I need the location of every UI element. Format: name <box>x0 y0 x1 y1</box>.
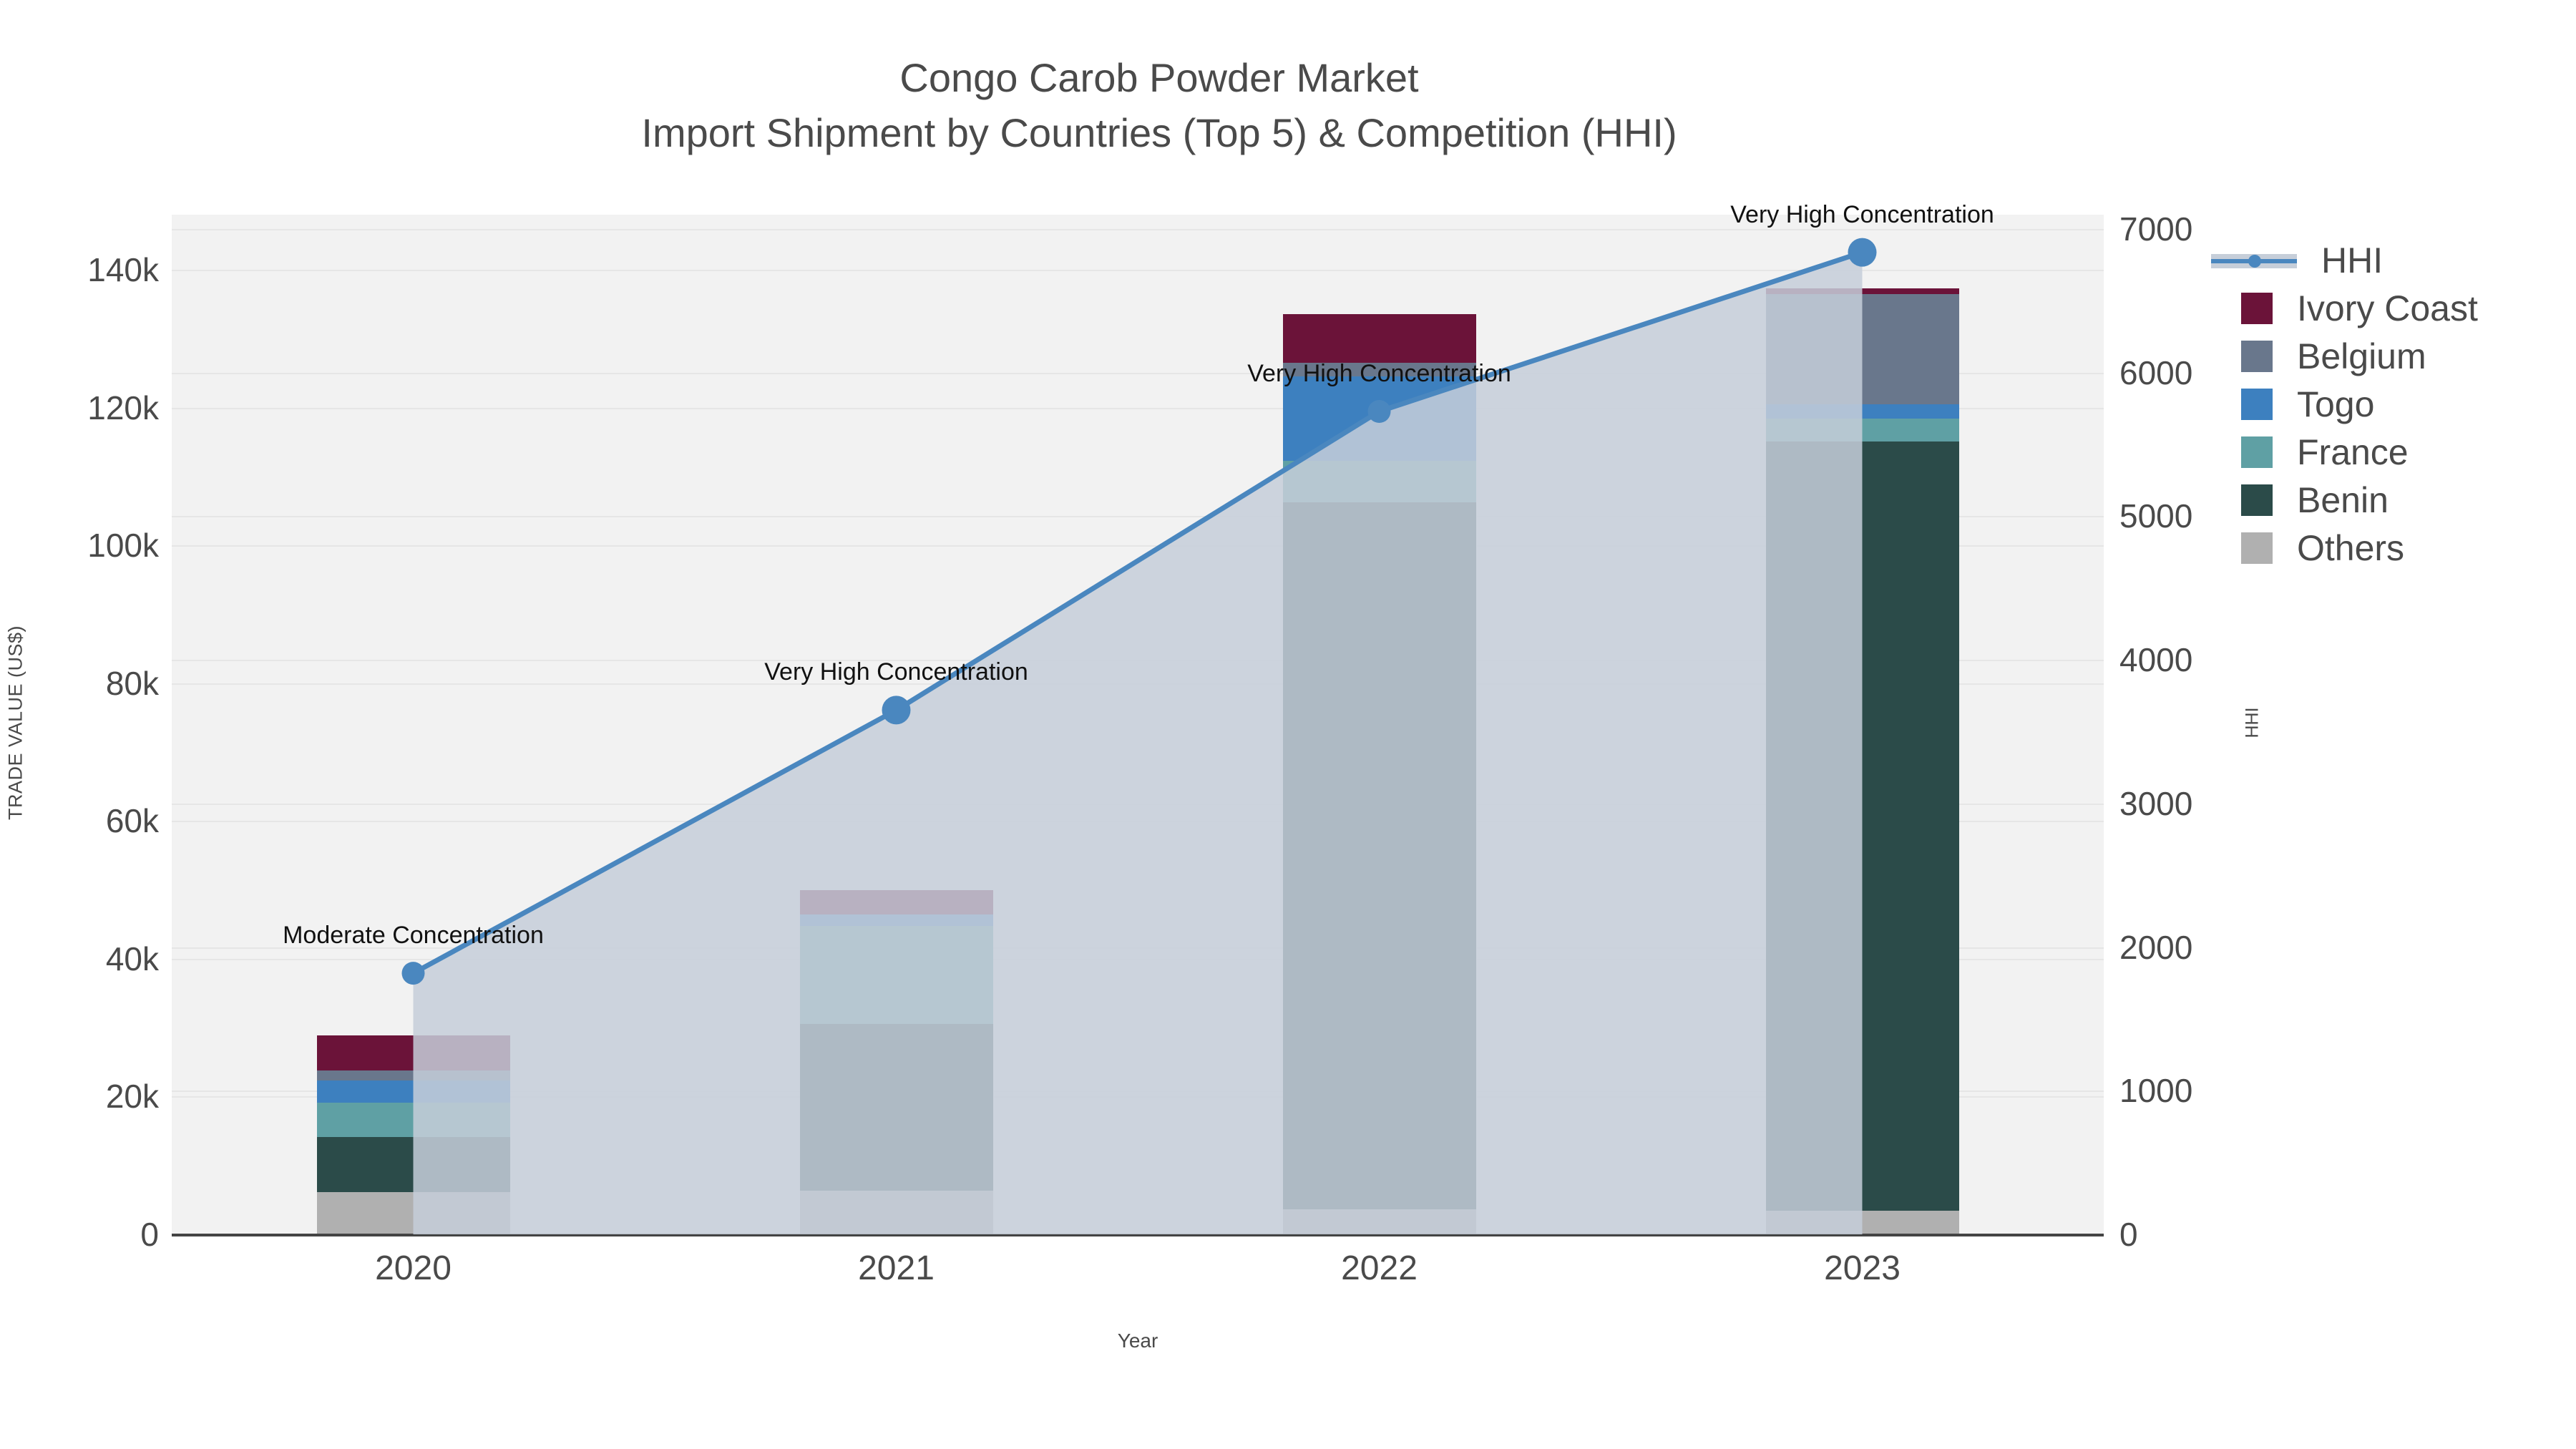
bar-stack[interactable] <box>800 890 993 1234</box>
plot-area <box>172 215 2104 1234</box>
bar-segment[interactable] <box>317 1035 510 1070</box>
bar-segment[interactable] <box>317 1070 510 1080</box>
bar-segment[interactable] <box>800 1024 993 1191</box>
x-axis-tick: 2023 <box>1824 1249 1901 1288</box>
concentration-annotation: Moderate Concentration <box>283 922 544 950</box>
legend-item-ivory-coast[interactable]: Ivory Coast <box>2211 284 2569 332</box>
y-axis-right-tick: 4000 <box>2119 640 2192 679</box>
gridline <box>172 270 2104 271</box>
y-axis-right-tick: 2000 <box>2119 928 2192 967</box>
legend-item-label: HHI <box>2321 240 2383 281</box>
y-axis-left-tick: 100k <box>87 526 159 565</box>
bar-segment[interactable] <box>317 1137 510 1192</box>
legend-item-hhi[interactable]: HHI <box>2211 236 2569 284</box>
y-axis-right-tick: 1000 <box>2119 1071 2192 1110</box>
bar-stack[interactable] <box>1283 314 1476 1234</box>
legend-item-label: France <box>2297 431 2409 473</box>
legend-item-belgium[interactable]: Belgium <box>2211 332 2569 380</box>
y-axis-right-tick: 7000 <box>2119 210 2192 248</box>
legend-item-label: Belgium <box>2297 336 2426 377</box>
legend-item-benin[interactable]: Benin <box>2211 476 2569 524</box>
legend-item-label: Others <box>2297 527 2404 569</box>
bar-segment[interactable] <box>1766 419 1959 441</box>
y-axis-left-tick: 20k <box>106 1077 159 1116</box>
y-axis-left-tick: 0 <box>140 1215 159 1254</box>
legend-swatch-icon <box>2241 436 2273 468</box>
bar-segment[interactable] <box>1283 376 1476 460</box>
bar-segment[interactable] <box>1766 1211 1959 1234</box>
bar-segment[interactable] <box>1283 314 1476 363</box>
x-axis-tick: 2021 <box>858 1249 935 1288</box>
x-axis-title: Year <box>1118 1330 1158 1352</box>
y-axis-left-tick: 120k <box>87 389 159 427</box>
y-axis-right-tick: 5000 <box>2119 497 2192 535</box>
chart-title-line-2: Import Shipment by Countries (Top 5) & C… <box>0 105 2318 160</box>
bar-stack[interactable] <box>317 1035 510 1234</box>
y-axis-right-title: HHI <box>2243 707 2263 738</box>
y-axis-right-tick: 6000 <box>2119 353 2192 392</box>
bar-stack[interactable] <box>1766 288 1959 1234</box>
bar-segment[interactable] <box>800 1191 993 1234</box>
bar-segment[interactable] <box>317 1192 510 1234</box>
bar-segment[interactable] <box>1766 288 1959 294</box>
x-axis-line <box>172 1234 2104 1236</box>
legend-line-icon <box>2211 245 2297 276</box>
y-axis-right-tick: 3000 <box>2119 784 2192 823</box>
legend-swatch-icon <box>2241 341 2273 372</box>
bar-segment[interactable] <box>800 890 993 915</box>
y-axis-left-tick: 60k <box>106 801 159 840</box>
concentration-annotation: Very High Concentration <box>1730 201 1994 229</box>
bar-segment[interactable] <box>1766 294 1959 404</box>
legend-swatch-icon <box>2241 293 2273 324</box>
y-axis-left-tick: 140k <box>87 250 159 289</box>
y-axis-left-title: TRADE VALUE (US$) <box>5 625 27 820</box>
y-axis-left-tick: 80k <box>106 664 159 703</box>
gridline-secondary <box>172 229 2104 230</box>
x-axis-tick: 2022 <box>1341 1249 1418 1288</box>
bar-segment[interactable] <box>800 926 993 1025</box>
legend-swatch-icon <box>2241 532 2273 564</box>
chart-title-line-1: Congo Carob Powder Market <box>0 50 2318 105</box>
bar-segment[interactable] <box>1766 404 1959 419</box>
legend-swatch-icon <box>2241 484 2273 516</box>
legend-item-label: Ivory Coast <box>2297 288 2478 329</box>
legend-item-label: Togo <box>2297 384 2374 425</box>
legend-item-togo[interactable]: Togo <box>2211 380 2569 428</box>
legend-item-france[interactable]: France <box>2211 428 2569 476</box>
x-axis-tick: 2020 <box>375 1249 452 1288</box>
bar-segment[interactable] <box>800 914 993 925</box>
bar-segment[interactable] <box>1283 461 1476 502</box>
y-axis-right-tick: 0 <box>2119 1215 2138 1254</box>
y-axis-left-tick: 40k <box>106 940 159 978</box>
legend-item-label: Benin <box>2297 479 2389 521</box>
bar-segment[interactable] <box>1283 1209 1476 1234</box>
chart-legend: HHIIvory CoastBelgiumTogoFranceBeninOthe… <box>2211 236 2569 572</box>
bar-segment[interactable] <box>1766 441 1959 1211</box>
bar-segment[interactable] <box>317 1080 510 1103</box>
chart-title: Congo Carob Powder Market Import Shipmen… <box>0 50 2318 161</box>
legend-item-others[interactable]: Others <box>2211 524 2569 572</box>
bar-segment[interactable] <box>317 1103 510 1137</box>
concentration-annotation: Very High Concentration <box>764 658 1028 686</box>
bar-segment[interactable] <box>1283 502 1476 1210</box>
legend-swatch-icon <box>2241 389 2273 420</box>
concentration-annotation: Very High Concentration <box>1247 360 1511 388</box>
